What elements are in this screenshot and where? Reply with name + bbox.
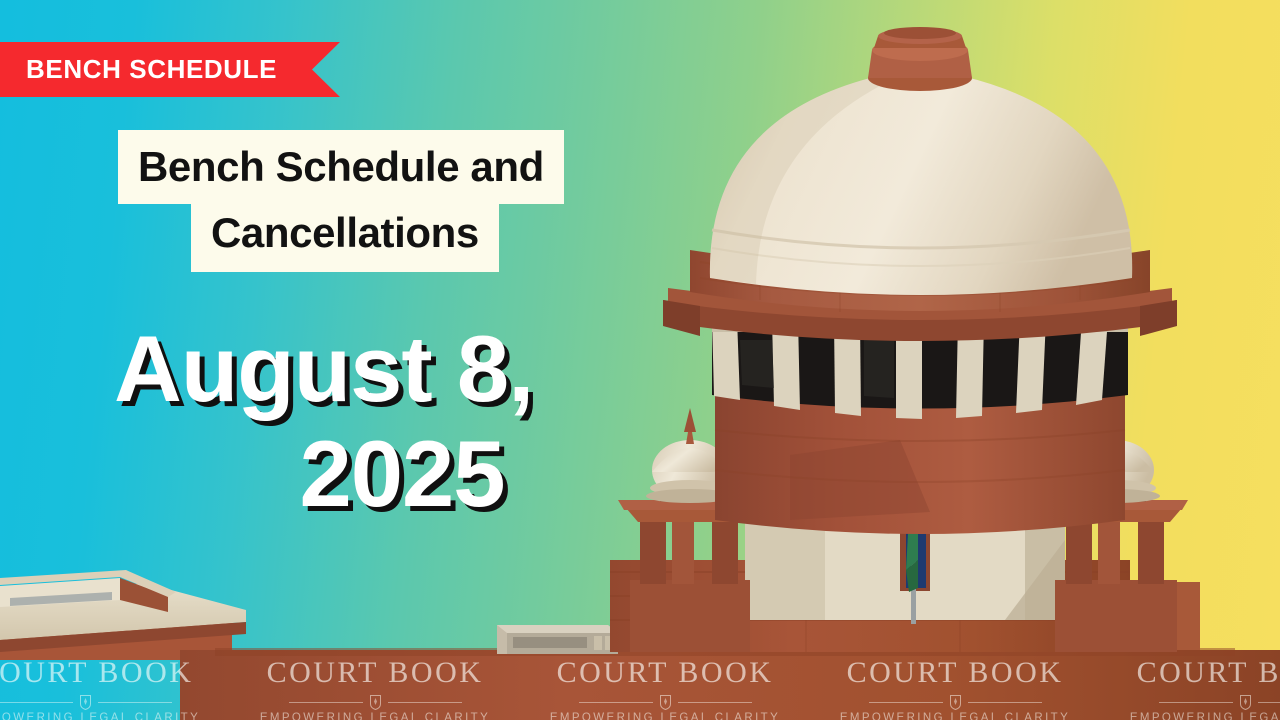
base-platform bbox=[180, 648, 1280, 720]
title-line-1: Bench Schedule and bbox=[118, 130, 564, 204]
main-dome bbox=[710, 76, 1132, 295]
ribbon-label: BENCH SCHEDULE bbox=[0, 54, 277, 85]
date-heading: August 8, 2025 bbox=[110, 316, 620, 527]
bench-schedule-ribbon: BENCH SCHEDULE bbox=[0, 42, 340, 97]
bench-schedule-card: BENCH SCHEDULE Bench Schedule and Cancel… bbox=[0, 0, 1280, 720]
title-line-1-wrap: Bench Schedule and bbox=[118, 130, 638, 204]
date-line-1: August 8, bbox=[110, 316, 620, 421]
dome-finial bbox=[868, 27, 972, 91]
title-line-2-wrap: Cancellations bbox=[118, 204, 638, 272]
date-line-2: 2025 bbox=[110, 421, 620, 526]
title-line-2: Cancellations bbox=[191, 204, 499, 272]
page-title: Bench Schedule and Cancellations bbox=[118, 130, 638, 272]
roof-box bbox=[497, 625, 618, 654]
left-wing bbox=[0, 570, 246, 660]
